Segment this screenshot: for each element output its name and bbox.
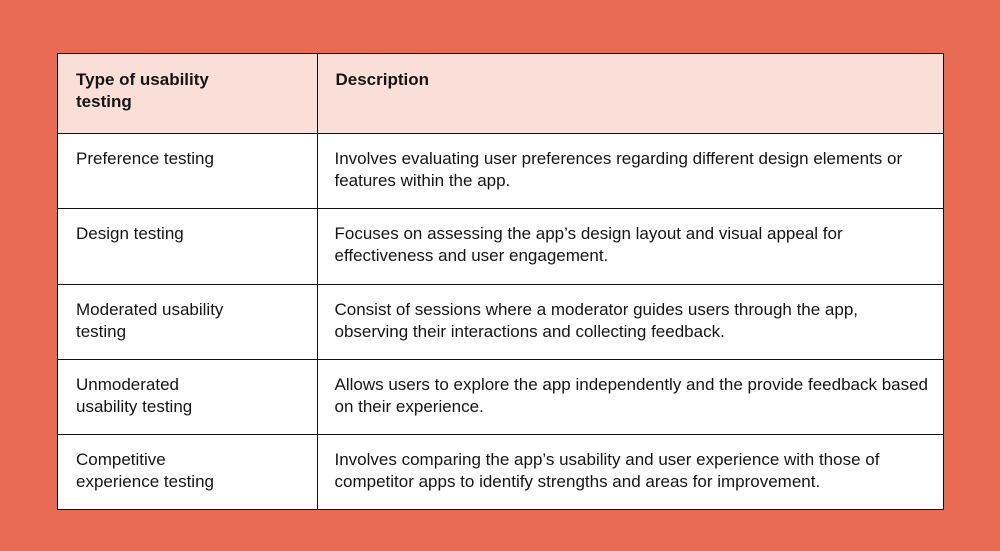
cell-description: Involves comparing the app’s usability a… <box>317 434 943 509</box>
cell-type-text: Unmoderated usability testing <box>76 374 305 418</box>
cell-description: Involves evaluating user preferences reg… <box>317 134 943 209</box>
cell-description-text: Focuses on assessing the app’s design la… <box>335 223 930 267</box>
cell-description-text: Involves evaluating user preferences reg… <box>335 148 930 192</box>
cell-description: Allows users to explore the app independ… <box>317 359 943 434</box>
table-header-row: Type of usability testing Description <box>58 54 943 134</box>
usability-testing-table-container: Type of usability testing Description Pr… <box>57 53 944 510</box>
table-row: Preference testing Involves evaluating u… <box>58 134 943 209</box>
table-header: Type of usability testing Description <box>58 54 943 134</box>
table-row: Moderated usability testing Consist of s… <box>58 284 943 359</box>
cell-type-text: Moderated usability testing <box>76 299 305 343</box>
cell-type: Unmoderated usability testing <box>58 359 317 434</box>
cell-type-text: Preference testing <box>76 148 305 170</box>
cell-description: Consist of sessions where a moderator gu… <box>317 284 943 359</box>
column-header-description-label: Description <box>336 69 926 91</box>
cell-description: Focuses on assessing the app’s design la… <box>317 209 943 284</box>
table-row: Design testing Focuses on assessing the … <box>58 209 943 284</box>
table-row: Unmoderated usability testing Allows use… <box>58 359 943 434</box>
cell-type: Moderated usability testing <box>58 284 317 359</box>
column-header-type: Type of usability testing <box>58 54 317 134</box>
cell-type: Design testing <box>58 209 317 284</box>
cell-type-text: Design testing <box>76 223 305 245</box>
cell-type-text: Competitive experience testing <box>76 449 305 493</box>
usability-testing-table: Type of usability testing Description Pr… <box>58 54 943 509</box>
cell-type: Competitive experience testing <box>58 434 317 509</box>
table-row: Competitive experience testing Involves … <box>58 434 943 509</box>
column-header-type-label: Type of usability testing <box>76 69 299 113</box>
table-body: Preference testing Involves evaluating u… <box>58 134 943 509</box>
cell-description-text: Involves comparing the app’s usability a… <box>335 449 930 493</box>
cell-description-text: Allows users to explore the app independ… <box>335 374 930 418</box>
cell-description-text: Consist of sessions where a moderator gu… <box>335 299 930 343</box>
column-header-description: Description <box>317 54 943 134</box>
cell-type: Preference testing <box>58 134 317 209</box>
page-canvas: Type of usability testing Description Pr… <box>0 0 1000 551</box>
